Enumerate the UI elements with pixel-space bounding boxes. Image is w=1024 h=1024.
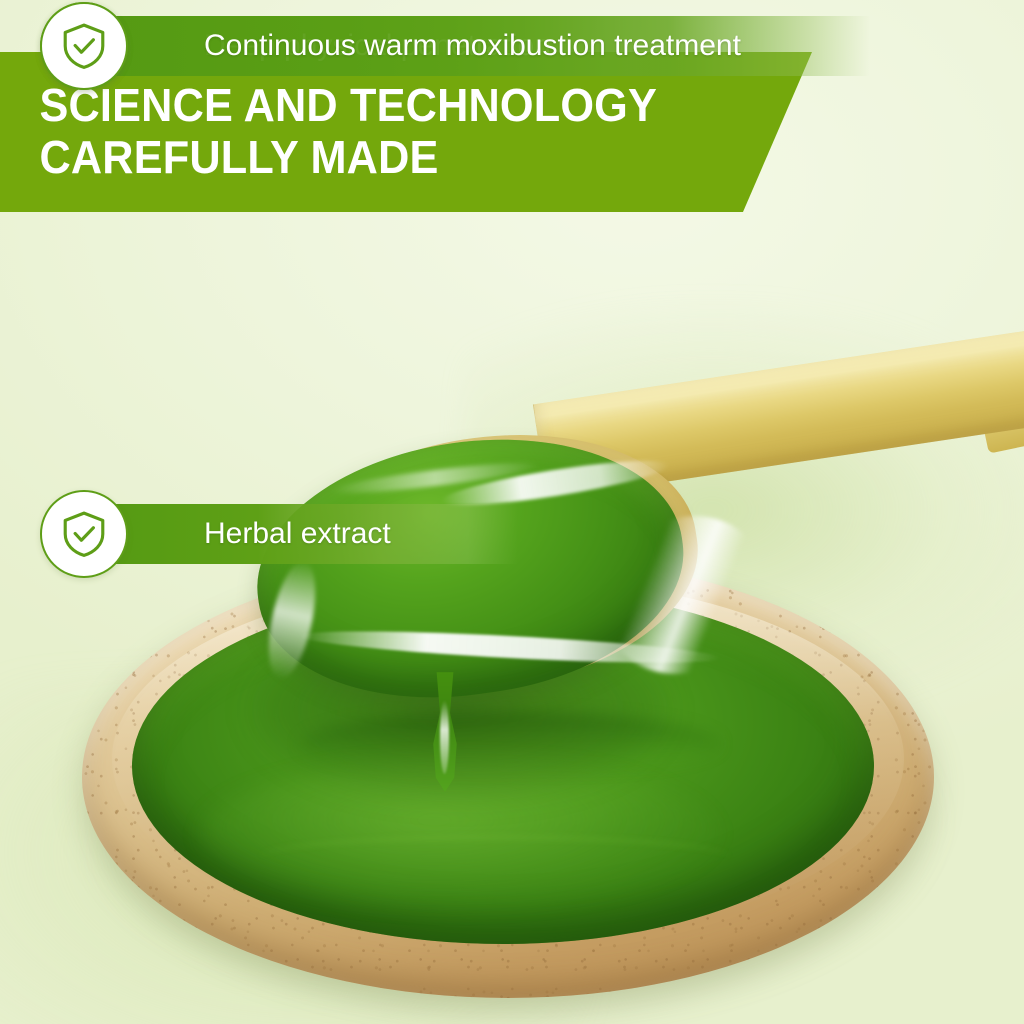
- product-feature-banner: SCIENCE AND TECHNOLOGY CAREFULLY MADE He…: [0, 0, 1024, 1024]
- feature-bar: Continuous warm moxibustion treatment: [98, 16, 870, 76]
- shield-check-icon: [61, 510, 107, 558]
- banner-title: SCIENCE AND TECHNOLOGY CAREFULLY MADE: [0, 80, 714, 183]
- feature-icon-badge: [40, 2, 128, 90]
- feature-item-herbal-extract: Herbal extract: [40, 488, 128, 580]
- feature-icon-badge: [40, 490, 128, 578]
- paste-drip-highlight: [440, 700, 449, 774]
- feature-item-moxibustion-treatment: Continuous warm moxibustion treatment: [40, 0, 128, 92]
- feature-label: Continuous warm moxibustion treatment: [98, 29, 741, 63]
- feature-label: Herbal extract: [98, 517, 391, 551]
- shield-check-icon: [61, 22, 107, 70]
- feature-bar: Herbal extract: [98, 504, 518, 564]
